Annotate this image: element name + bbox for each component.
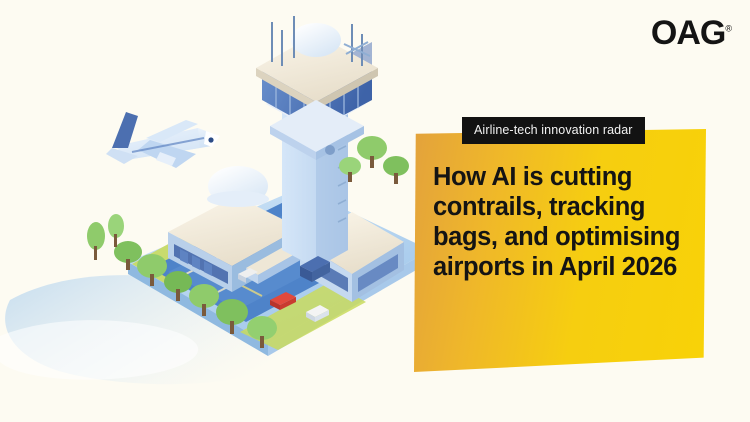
oag-logo-text: OAG	[651, 14, 725, 52]
poster-canvas: How AI is cutting contrails, tracking ba…	[0, 0, 750, 422]
registered-trademark-icon: ®	[725, 24, 732, 34]
airport-illustration	[0, 0, 470, 422]
eyebrow-label: Airline-tech innovation radar	[462, 117, 645, 144]
oag-logo: OAG®	[651, 16, 732, 50]
airplane	[106, 112, 220, 168]
radar-dome	[207, 166, 269, 207]
page-title: How AI is cutting contrails, tracking ba…	[433, 162, 685, 282]
